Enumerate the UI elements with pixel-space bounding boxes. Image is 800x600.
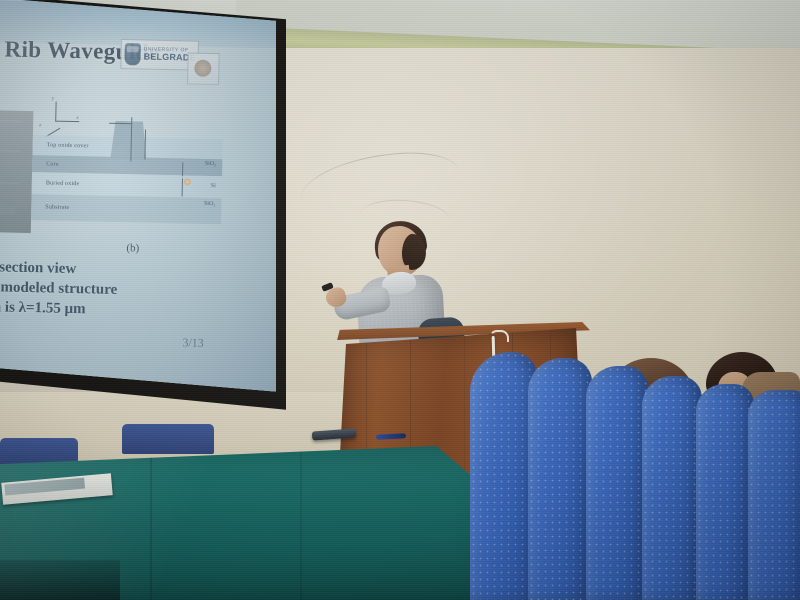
seat-3 [586, 366, 648, 600]
slide-caption: cross-section view re; b) modeled struct… [0, 258, 232, 323]
axes-icon: y x z [43, 101, 80, 130]
waveguide-cross-section-diagram: y x z Top oxide cover Core Buried oxide … [31, 97, 224, 231]
seat-4 [642, 376, 702, 600]
faculty-seal-icon [187, 52, 220, 85]
rib-structure [110, 121, 147, 160]
material-label-si: Si [211, 183, 216, 189]
seat-5 [696, 384, 754, 600]
axis-label-z: z [39, 123, 41, 128]
seat-2 [528, 358, 592, 600]
crest-icon [124, 43, 140, 65]
layer-substrate: Substrate [31, 194, 222, 224]
material-label-sio2-sub: SiO₂ [204, 201, 216, 207]
material-label-sio2-core: SiO₂ [205, 161, 217, 167]
figure-b-label: (b) [126, 242, 139, 254]
lecture-room-photo: OI Rib Waveguide UNIVERSITY OF BELGRADE … [0, 0, 800, 600]
axis-label-x: x [76, 116, 79, 121]
audience-seats [470, 352, 800, 600]
foreground-shadow [0, 560, 120, 600]
projection-screen: OI Rib Waveguide UNIVERSITY OF BELGRADE … [0, 0, 276, 404]
seat-6 [748, 390, 800, 600]
figure-a-photo [0, 110, 33, 233]
chair-back-center [122, 424, 214, 454]
slide-page-number: 3/13 [182, 335, 204, 350]
axis-label-y: y [52, 97, 55, 102]
